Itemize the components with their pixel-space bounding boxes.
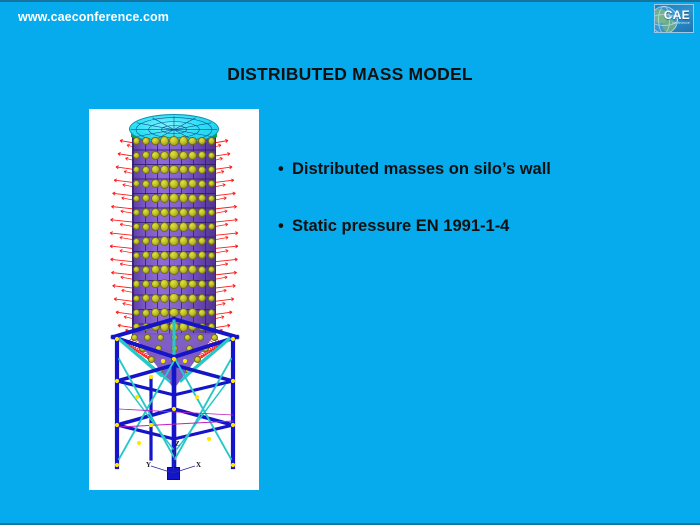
axis-label-y: Y — [146, 461, 151, 469]
bullet-marker-icon: • — [278, 217, 284, 237]
fea-model-figure: Y X Z — [89, 109, 259, 490]
list-item: • Static pressure EN 1991-1-4 — [278, 217, 678, 237]
cae-logo: CAE conference — [654, 4, 694, 33]
site-url-text: www.caeconference.com — [18, 10, 169, 24]
axis-triad-icon — [89, 109, 259, 490]
logo-text: CAE — [664, 9, 690, 21]
bullet-list: • Distributed masses on silo’s wall • St… — [278, 160, 678, 237]
fea-render-stage: Y X Z — [89, 109, 259, 490]
bullet-marker-icon: • — [278, 160, 284, 180]
list-item-label: Distributed masses on silo’s wall — [292, 160, 551, 178]
logo-subtext: conference — [672, 21, 690, 25]
list-item: • Distributed masses on silo’s wall — [278, 160, 678, 180]
axis-label-x: X — [196, 461, 201, 469]
axis-label-z: Z — [175, 440, 180, 448]
list-item-label: Static pressure EN 1991-1-4 — [292, 217, 509, 235]
presentation-slide: www.caeconference.com CAE conference DIS… — [0, 0, 700, 525]
page-title: DISTRIBUTED MASS MODEL — [0, 64, 700, 85]
